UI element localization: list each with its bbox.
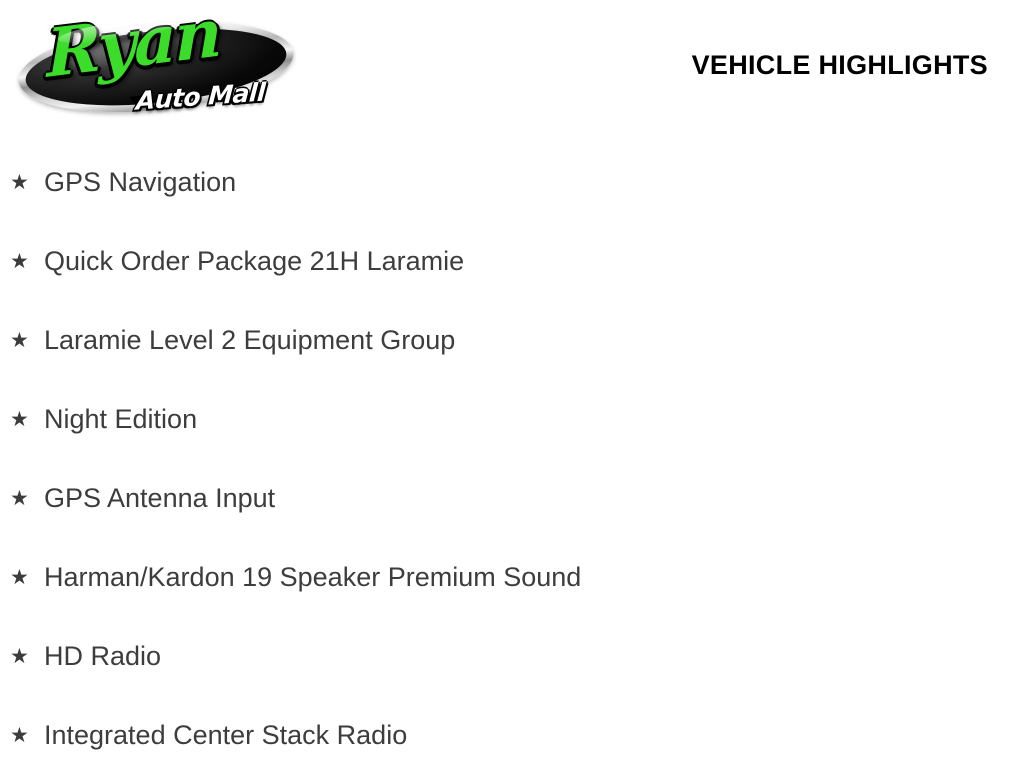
page-title: VEHICLE HIGHLIGHTS [692, 50, 988, 81]
highlight-item-label: Night Edition [44, 405, 197, 435]
highlight-item-label: Harman/Kardon 19 Speaker Premium Sound [44, 563, 581, 593]
star-icon: ★ [10, 251, 32, 272]
highlight-item-label: Quick Order Package 21H Laramie [44, 247, 464, 277]
highlight-item: ★GPS Antenna Input [0, 459, 1024, 538]
highlight-item: ★Laramie Level 2 Equipment Group [0, 301, 1024, 380]
highlight-item: ★HD Radio [0, 617, 1024, 696]
star-icon: ★ [10, 646, 32, 667]
ryan-auto-mall-logo[interactable]: Ryan Auto Mall [18, 8, 294, 122]
star-icon: ★ [10, 409, 32, 430]
highlight-item: ★Quick Order Package 21H Laramie [0, 222, 1024, 301]
highlight-item: ★Integrated Center Stack Radio [0, 696, 1024, 775]
highlight-item-label: HD Radio [44, 642, 161, 672]
logo-wordmark-auto-mall: Auto Mall [135, 79, 266, 113]
star-icon: ★ [10, 567, 32, 588]
page-header: Ryan Auto Mall VEHICLE HIGHLIGHTS [0, 0, 1024, 130]
highlight-item: ★Harman/Kardon 19 Speaker Premium Sound [0, 538, 1024, 617]
star-icon: ★ [10, 725, 32, 746]
star-icon: ★ [10, 330, 32, 351]
vehicle-highlights-list: ★GPS Navigation★Quick Order Package 21H … [0, 143, 1024, 775]
logo-wordmark-ryan: Ryan [46, 0, 221, 87]
highlight-item-label: GPS Navigation [44, 168, 236, 198]
highlight-item-label: Laramie Level 2 Equipment Group [44, 326, 455, 356]
highlight-item: ★GPS Navigation [0, 143, 1024, 222]
star-icon: ★ [10, 172, 32, 193]
highlight-item-label: Integrated Center Stack Radio [44, 721, 407, 751]
star-icon: ★ [10, 488, 32, 509]
vehicle-highlights-page: Ryan Auto Mall VEHICLE HIGHLIGHTS ★GPS N… [0, 0, 1024, 768]
highlight-item-label: GPS Antenna Input [44, 484, 275, 514]
highlight-item: ★Night Edition [0, 380, 1024, 459]
